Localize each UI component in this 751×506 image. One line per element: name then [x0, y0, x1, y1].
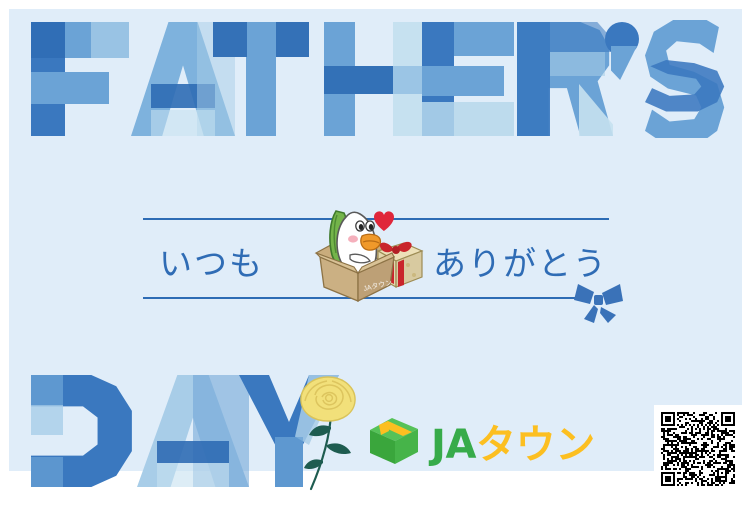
rose-flower-icon [297, 375, 359, 493]
message-text-right: ありがとう [433, 237, 608, 285]
bow-ribbon-icon [572, 281, 624, 325]
letter-A-2 [137, 375, 249, 487]
town-text: タウン [476, 422, 595, 468]
qr-code-icon[interactable] [654, 405, 742, 493]
fathers-day-poster: いつも ありがとう [0, 0, 751, 506]
poster-frame: いつも ありがとう [9, 9, 742, 497]
qr-code-canvas [661, 412, 735, 486]
ja-text: JA [431, 422, 476, 468]
ja-town-logo[interactable]: JAタウン [367, 413, 595, 469]
duck-mascot-icon: JAタウン [294, 195, 424, 307]
message-text-left: いつも [159, 237, 264, 285]
ja-town-box-icon [367, 416, 421, 466]
ja-town-wordmark: JAタウン [431, 412, 595, 470]
letter-D [31, 375, 135, 487]
